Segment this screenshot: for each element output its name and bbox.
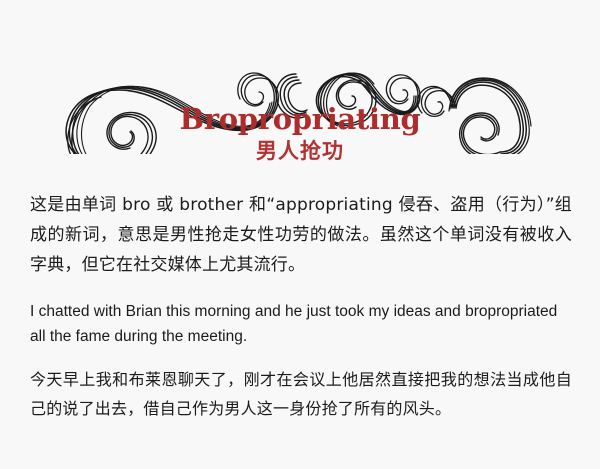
definition-paragraph: 这是由单词 bro 或 brother 和“appropriating 侵吞、盗… — [30, 190, 572, 280]
title-block: Bropropriating 男人抢功 — [0, 104, 600, 166]
word-card: Bropropriating 男人抢功 这是由单词 bro 或 brother … — [0, 0, 600, 469]
page-subtitle: 男人抢功 — [0, 137, 600, 165]
page-title: Bropropriating — [0, 104, 600, 134]
example-sentence-chinese: 今天早上我和布莱恩聊天了，刚才在会议上他居然直接把我的想法当成他自己的说了出去，… — [30, 365, 572, 423]
example-sentence-english: I chatted with Brian this morning and he… — [30, 299, 572, 349]
body-content: 这是由单词 bro 或 brother 和“appropriating 侵吞、盗… — [30, 190, 572, 423]
